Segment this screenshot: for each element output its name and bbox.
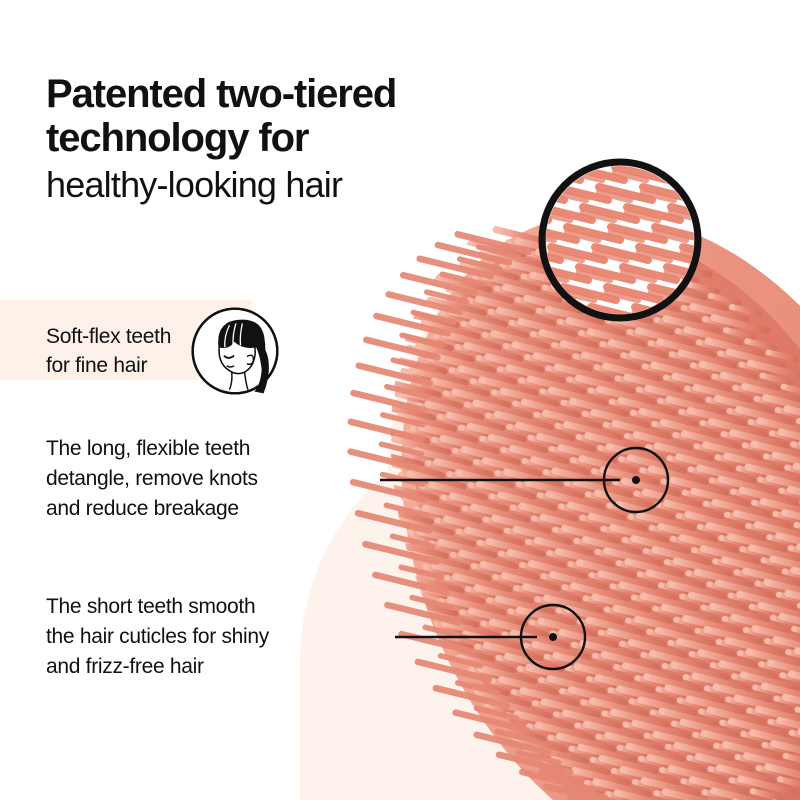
callout-short-teeth: The short teeth smooth the hair cuticles… xyxy=(46,592,376,682)
headline-line-1: Patented two-tiered xyxy=(46,72,586,116)
callout-long-teeth: The long, flexible teeth detangle, remov… xyxy=(46,434,376,524)
infographic-canvas: Patented two-tiered technology for healt… xyxy=(0,0,800,800)
soft-flex-feature: Soft-flex teeth for fine hair xyxy=(46,305,281,397)
headline-line-3: healthy-looking hair xyxy=(46,162,586,208)
headline: Patented two-tiered technology for healt… xyxy=(46,72,586,208)
headline-line-2: technology for xyxy=(46,116,586,160)
callout-long-teeth-text: The long, flexible teeth detangle, remov… xyxy=(46,434,376,524)
callout-short-teeth-text: The short teeth smooth the hair cuticles… xyxy=(46,592,376,682)
soft-flex-label: Soft-flex teeth for fine hair xyxy=(46,322,171,380)
woman-face-side-profile-icon xyxy=(189,305,281,397)
